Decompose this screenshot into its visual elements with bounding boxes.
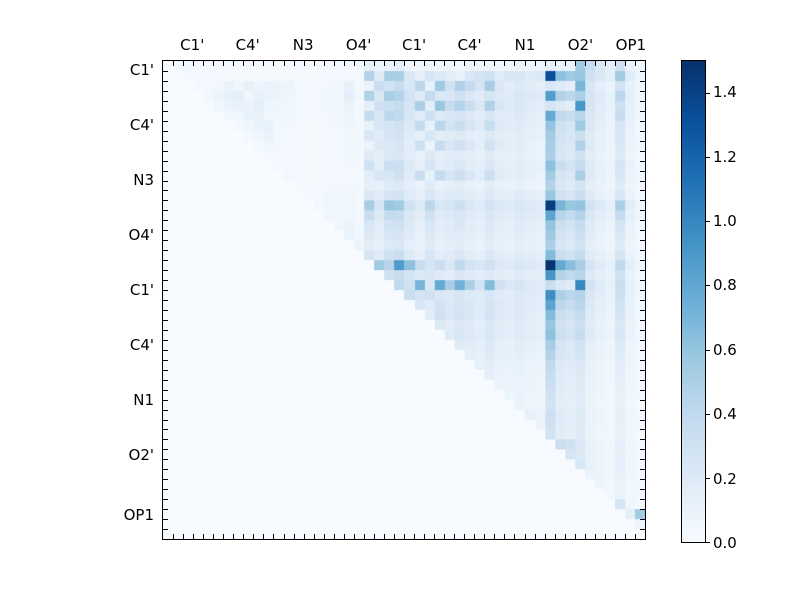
y-tick-mark [640, 71, 645, 72]
y-tick-mark [640, 390, 645, 391]
x-tick-mark [334, 534, 335, 539]
y-tick-mark [640, 519, 645, 520]
y-tick-mark [640, 190, 645, 191]
y-tick-mark [163, 390, 168, 391]
y-tick-mark [163, 469, 168, 470]
x-tick-mark [273, 61, 274, 66]
x-tick-mark [565, 61, 566, 66]
y-tick-mark [163, 190, 168, 191]
x-axis-tick-label-5: C4' [457, 36, 481, 54]
x-tick-mark [514, 61, 515, 66]
colorbar-tick-label-3: 0.6 [713, 341, 737, 359]
y-tick-mark [640, 340, 645, 341]
x-tick-mark [354, 61, 355, 66]
y-tick-mark [163, 260, 168, 261]
x-tick-mark [183, 61, 184, 66]
y-tick-mark [163, 151, 168, 152]
x-tick-mark [464, 534, 465, 539]
x-axis-tick-label-7: O2' [568, 36, 593, 54]
x-tick-mark [223, 534, 224, 539]
x-tick-mark [605, 61, 606, 66]
x-tick-mark [263, 534, 264, 539]
x-tick-mark [575, 534, 576, 539]
x-tick-mark [173, 61, 174, 66]
y-tick-mark [640, 420, 645, 421]
y-tick-mark [163, 380, 168, 381]
x-tick-mark [545, 534, 546, 539]
y-tick-mark [640, 439, 645, 440]
x-tick-mark [384, 61, 385, 66]
y-tick-mark [163, 439, 168, 440]
x-tick-mark [444, 61, 445, 66]
colorbar-tick-label-6: 1.2 [713, 148, 737, 166]
heatmap-image[interactable] [163, 61, 645, 539]
x-tick-mark [183, 534, 184, 539]
x-tick-mark [444, 534, 445, 539]
y-tick-mark [163, 340, 168, 341]
colorbar-tick-mark-3 [705, 350, 710, 351]
y-tick-mark [640, 220, 645, 221]
y-tick-mark [640, 509, 645, 510]
colorbar-tick-mark-5 [705, 221, 710, 222]
y-tick-mark [163, 220, 168, 221]
y-tick-mark [640, 240, 645, 241]
x-axis-tick-label-0: C1' [180, 36, 204, 54]
y-tick-mark [163, 171, 168, 172]
x-tick-mark [384, 534, 385, 539]
y-tick-mark [640, 210, 645, 211]
colorbar-tick-label-2: 0.4 [713, 405, 737, 423]
x-tick-mark [454, 61, 455, 66]
colorbar-tick-mark-6 [705, 157, 710, 158]
y-tick-mark [163, 141, 168, 142]
x-tick-mark [504, 61, 505, 66]
y-axis-tick-label-3: O4' [104, 226, 154, 244]
y-tick-mark [640, 350, 645, 351]
x-axis-tick-label-2: N3 [293, 36, 314, 54]
x-tick-mark [555, 534, 556, 539]
x-tick-mark [273, 534, 274, 539]
x-tick-mark [314, 61, 315, 66]
y-tick-mark [640, 81, 645, 82]
y-tick-mark [640, 260, 645, 261]
y-tick-mark [640, 489, 645, 490]
x-tick-mark [213, 534, 214, 539]
x-axis-tick-label-1: C4' [236, 36, 260, 54]
y-tick-mark [163, 111, 168, 112]
x-tick-mark [394, 534, 395, 539]
y-tick-mark [640, 141, 645, 142]
x-tick-mark [474, 61, 475, 66]
x-tick-mark [615, 61, 616, 66]
y-tick-mark [163, 280, 168, 281]
x-tick-mark [394, 61, 395, 66]
y-axis-tick-label-4: C1' [104, 281, 154, 299]
y-tick-mark [640, 400, 645, 401]
x-tick-mark [434, 534, 435, 539]
colorbar-gradient [682, 61, 705, 542]
x-tick-mark [203, 534, 204, 539]
y-tick-mark [640, 529, 645, 530]
x-tick-mark [565, 534, 566, 539]
x-axis-tick-label-4: C1' [402, 36, 426, 54]
y-tick-mark [640, 250, 645, 251]
x-tick-mark [243, 61, 244, 66]
x-tick-mark [585, 61, 586, 66]
y-tick-mark [640, 270, 645, 271]
y-tick-mark [163, 250, 168, 251]
y-tick-mark [640, 200, 645, 201]
y-tick-mark [163, 449, 168, 450]
x-tick-mark [625, 61, 626, 66]
colorbar[interactable] [681, 60, 706, 543]
y-tick-mark [640, 131, 645, 132]
x-tick-mark [535, 61, 536, 66]
y-tick-mark [163, 91, 168, 92]
x-tick-mark [233, 534, 234, 539]
x-tick-mark [545, 61, 546, 66]
x-tick-mark [324, 61, 325, 66]
x-tick-mark [233, 61, 234, 66]
y-tick-mark [163, 350, 168, 351]
y-tick-mark [640, 429, 645, 430]
y-tick-mark [163, 300, 168, 301]
x-tick-mark [494, 534, 495, 539]
y-axis-tick-label-8: OP1 [104, 506, 154, 524]
x-tick-mark [314, 534, 315, 539]
x-tick-mark [635, 534, 636, 539]
colorbar-tick-label-5: 1.0 [713, 212, 737, 230]
colorbar-tick-mark-4 [705, 285, 710, 286]
y-tick-mark [640, 360, 645, 361]
x-tick-mark [555, 61, 556, 66]
y-tick-mark [640, 101, 645, 102]
y-tick-mark [640, 449, 645, 450]
x-tick-mark [404, 534, 405, 539]
y-tick-mark [163, 240, 168, 241]
y-tick-mark [640, 300, 645, 301]
y-tick-mark [640, 181, 645, 182]
y-tick-mark [640, 91, 645, 92]
x-axis-tick-label-8: OP1 [616, 36, 646, 54]
y-tick-mark [163, 459, 168, 460]
y-tick-mark [163, 270, 168, 271]
x-tick-mark [284, 534, 285, 539]
x-tick-mark [625, 534, 626, 539]
y-tick-mark [163, 479, 168, 480]
y-tick-mark [640, 380, 645, 381]
y-tick-mark [640, 161, 645, 162]
x-tick-mark [535, 534, 536, 539]
y-tick-mark [163, 101, 168, 102]
x-tick-mark [494, 61, 495, 66]
x-axis-tick-label-6: N1 [515, 36, 536, 54]
x-tick-mark [414, 534, 415, 539]
x-tick-mark [635, 61, 636, 66]
y-tick-mark [640, 330, 645, 331]
x-tick-mark [454, 534, 455, 539]
y-axis-tick-label-0: C1' [104, 61, 154, 79]
y-tick-mark [640, 410, 645, 411]
x-tick-mark [173, 534, 174, 539]
y-tick-mark [640, 151, 645, 152]
y-tick-mark [640, 111, 645, 112]
x-tick-mark [294, 534, 295, 539]
y-axis-tick-label-2: N3 [104, 171, 154, 189]
y-tick-mark [163, 360, 168, 361]
figure-canvas: C1'C4'N3O4'C1'C4'N1O2'OP1 C1'C4'N3O4'C1'… [0, 0, 800, 600]
x-tick-mark [324, 534, 325, 539]
x-tick-mark [585, 534, 586, 539]
x-tick-mark [575, 61, 576, 66]
y-tick-mark [163, 489, 168, 490]
y-tick-mark [163, 509, 168, 510]
colorbar-tick-mark-2 [705, 414, 710, 415]
y-tick-mark [640, 171, 645, 172]
y-tick-mark [163, 131, 168, 132]
x-tick-mark [414, 61, 415, 66]
y-tick-mark [163, 330, 168, 331]
x-tick-mark [404, 61, 405, 66]
x-tick-mark [364, 534, 365, 539]
colorbar-tick-mark-0 [705, 542, 710, 543]
x-tick-mark [213, 61, 214, 66]
x-tick-mark [253, 61, 254, 66]
x-axis-tick-label-3: O4' [346, 36, 371, 54]
y-tick-mark [163, 181, 168, 182]
y-tick-mark [163, 230, 168, 231]
x-tick-mark [294, 61, 295, 66]
x-tick-mark [615, 534, 616, 539]
colorbar-tick-label-1: 0.2 [713, 470, 737, 488]
y-tick-mark [640, 469, 645, 470]
colorbar-tick-label-4: 0.8 [713, 276, 737, 294]
y-tick-mark [163, 81, 168, 82]
y-tick-mark [640, 499, 645, 500]
x-tick-mark [374, 61, 375, 66]
x-tick-mark [474, 534, 475, 539]
y-tick-mark [163, 200, 168, 201]
x-tick-mark [424, 534, 425, 539]
x-tick-mark [484, 534, 485, 539]
x-tick-mark [374, 534, 375, 539]
x-tick-mark [434, 61, 435, 66]
y-tick-mark [163, 529, 168, 530]
x-tick-mark [334, 61, 335, 66]
y-tick-mark [163, 400, 168, 401]
colorbar-tick-mark-7 [705, 93, 710, 94]
y-tick-mark [640, 230, 645, 231]
x-tick-mark [595, 534, 596, 539]
heatmap-axes[interactable] [162, 60, 646, 540]
x-tick-mark [504, 534, 505, 539]
y-tick-mark [640, 459, 645, 460]
y-tick-mark [640, 290, 645, 291]
y-tick-mark [163, 429, 168, 430]
y-tick-mark [640, 320, 645, 321]
x-tick-mark [203, 61, 204, 66]
y-axis-tick-label-5: C4' [104, 336, 154, 354]
x-tick-mark [354, 534, 355, 539]
y-tick-mark [640, 370, 645, 371]
y-tick-mark [163, 290, 168, 291]
x-tick-mark [525, 534, 526, 539]
y-tick-mark [163, 519, 168, 520]
y-tick-mark [640, 310, 645, 311]
x-tick-mark [344, 534, 345, 539]
x-tick-mark [605, 534, 606, 539]
x-tick-mark [484, 61, 485, 66]
x-tick-mark [193, 534, 194, 539]
y-tick-mark [163, 370, 168, 371]
y-axis-tick-label-7: O2' [104, 446, 154, 464]
y-tick-mark [640, 121, 645, 122]
y-tick-mark [163, 410, 168, 411]
y-axis-tick-label-1: C4' [104, 116, 154, 134]
x-tick-mark [284, 61, 285, 66]
x-tick-mark [525, 61, 526, 66]
x-tick-mark [464, 61, 465, 66]
y-tick-mark [163, 420, 168, 421]
x-tick-mark [364, 61, 365, 66]
colorbar-tick-label-7: 1.4 [713, 83, 737, 101]
x-tick-mark [344, 61, 345, 66]
y-tick-mark [163, 320, 168, 321]
y-tick-mark [163, 310, 168, 311]
x-tick-mark [253, 534, 254, 539]
x-tick-mark [304, 534, 305, 539]
y-tick-mark [640, 479, 645, 480]
y-tick-mark [163, 71, 168, 72]
y-tick-mark [163, 499, 168, 500]
x-tick-mark [595, 61, 596, 66]
x-tick-mark [304, 61, 305, 66]
y-axis-tick-label-6: N1 [104, 391, 154, 409]
colorbar-tick-mark-1 [705, 478, 710, 479]
x-tick-mark [193, 61, 194, 66]
y-tick-mark [163, 121, 168, 122]
x-tick-mark [424, 61, 425, 66]
x-tick-mark [263, 61, 264, 66]
y-tick-mark [163, 161, 168, 162]
y-tick-mark [163, 210, 168, 211]
x-tick-mark [243, 534, 244, 539]
y-tick-mark [640, 280, 645, 281]
colorbar-tick-label-0: 0.0 [713, 534, 737, 552]
x-tick-mark [223, 61, 224, 66]
x-tick-mark [514, 534, 515, 539]
